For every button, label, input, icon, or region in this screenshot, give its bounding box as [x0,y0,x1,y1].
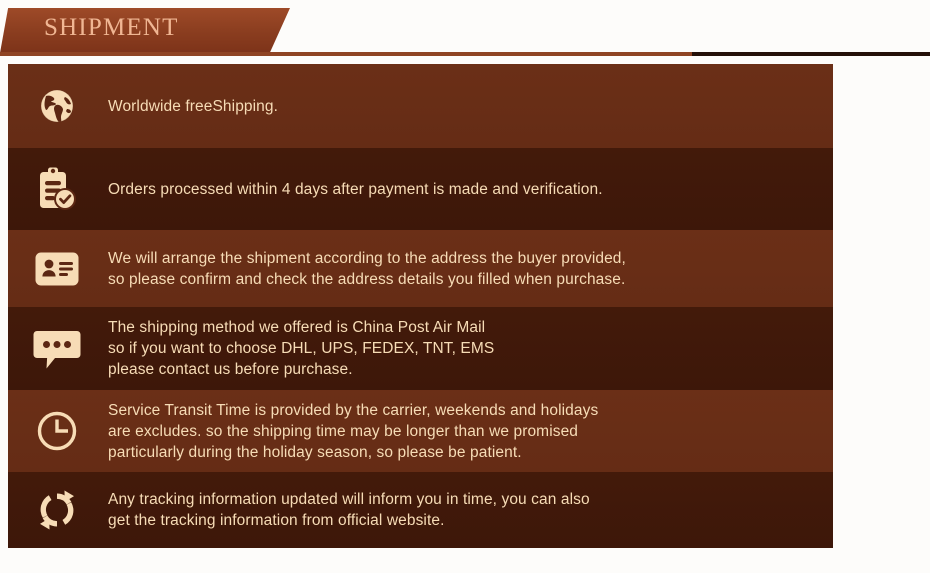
info-row-text: We will arrange the shipment according t… [88,248,833,290]
info-row-line: so if you want to choose DHL, UPS, FEDEX… [108,338,833,359]
info-row-line: Any tracking information updated will in… [108,489,833,510]
info-row-text: Service Transit Time is provided by the … [88,400,833,463]
divider-right-segment [692,52,930,56]
divider-left-segment [0,52,692,56]
speech-bubble-icon [26,320,88,378]
info-row-line: Orders processed within 4 days after pay… [108,179,833,200]
refresh-icon [26,481,88,539]
clipboard-check-icon [26,160,88,218]
info-row-line: are excludes. so the shipping time may b… [108,421,833,442]
info-row-text: Worldwide freeShipping. [88,96,833,117]
info-row: The shipping method we offered is China … [8,307,833,390]
info-row-text: The shipping method we offered is China … [88,317,833,380]
shipment-banner: SHIPMENT Worldwide freeShipping. [0,0,930,573]
info-row-line: Service Transit Time is provided by the … [108,400,833,421]
info-row-text: Any tracking information updated will in… [88,489,833,531]
info-row-line: The shipping method we offered is China … [108,317,833,338]
info-row-line: particularly during the holiday season, … [108,442,833,463]
shipment-info-list: Worldwide freeShipping. Orders processed… [8,64,833,548]
info-row-line: get the tracking information from offici… [108,510,833,531]
id-card-icon [26,240,88,298]
info-row: Any tracking information updated will in… [8,472,833,548]
info-row: Orders processed within 4 days after pay… [8,148,833,230]
page-title: SHIPMENT [44,14,179,42]
header: SHIPMENT [0,8,930,54]
info-row-line: please contact us before purchase. [108,359,833,380]
globe-icon [26,77,88,135]
info-row-line: Worldwide freeShipping. [108,96,833,117]
info-row: Worldwide freeShipping. [8,64,833,148]
info-row-line: We will arrange the shipment according t… [108,248,833,269]
info-row: Service Transit Time is provided by the … [8,390,833,472]
info-row-line: so please confirm and check the address … [108,269,833,290]
header-divider [0,52,930,56]
clock-icon [26,402,88,460]
info-row: We will arrange the shipment according t… [8,230,833,307]
info-row-text: Orders processed within 4 days after pay… [88,179,833,200]
